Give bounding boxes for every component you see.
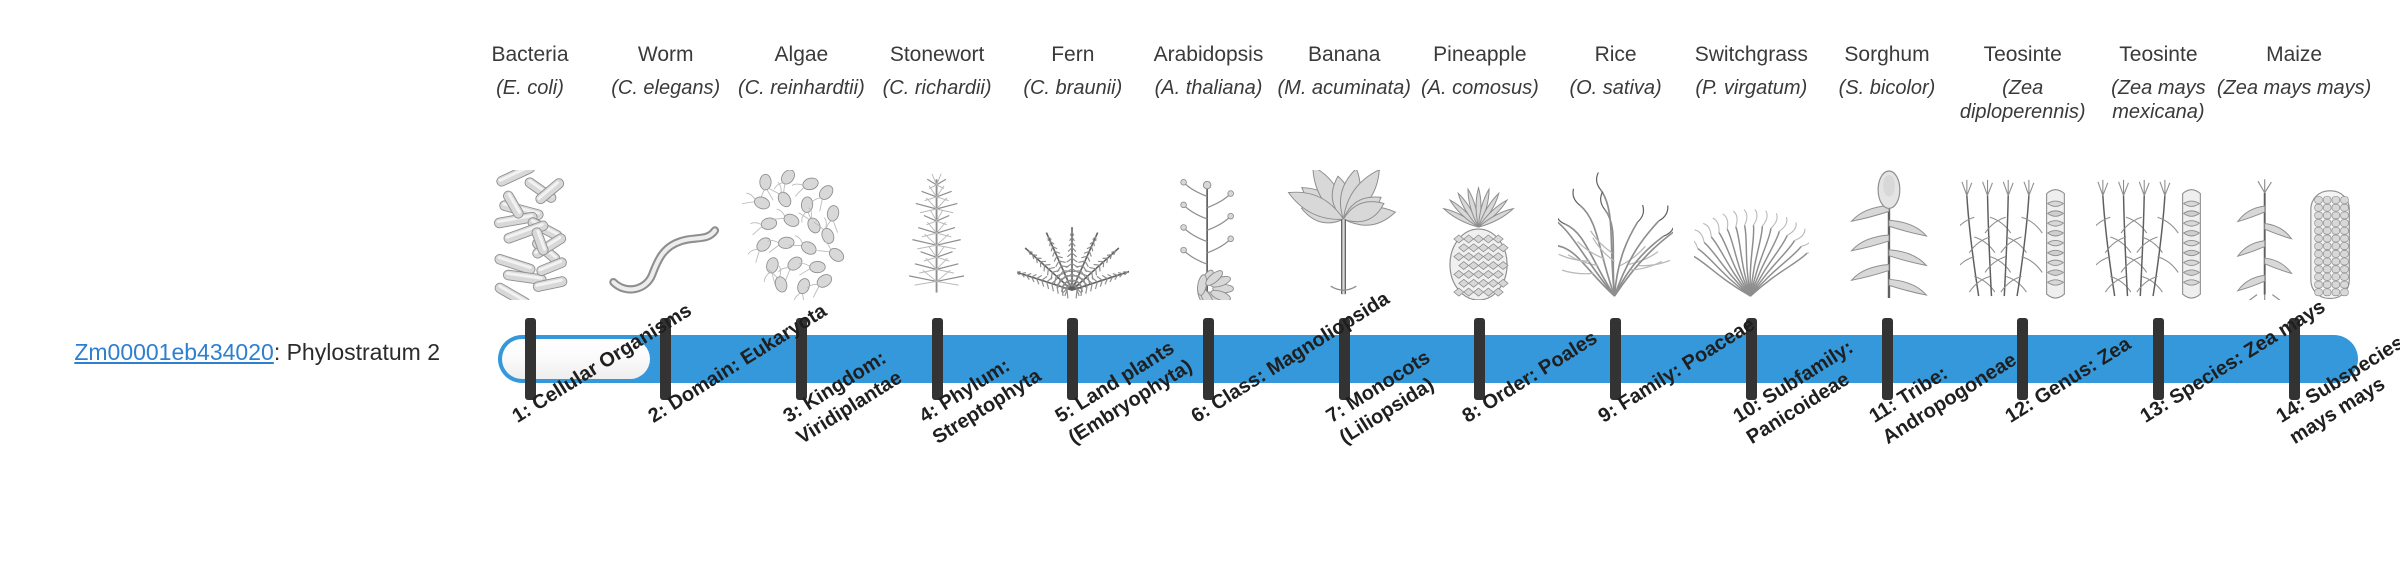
phylostratum-tick-1: [525, 318, 536, 400]
gene-phylostratum-value: Phylostratum 2: [287, 339, 440, 365]
gene-id-link[interactable]: Zm00001eb434020: [74, 339, 274, 365]
species-column-worm: Worm(C. elegans): [598, 0, 734, 580]
species-column-fern: Fern(C. braunii): [1005, 0, 1141, 580]
gene-label-separator: :: [274, 339, 287, 365]
species-column-teosinte: Teosinte(Zea mays mexicana): [2090, 0, 2226, 580]
species-column-sorghum: Sorghum(S. bicolor): [1819, 0, 1955, 580]
species-column-maize: Maize(Zea mays mays): [2226, 0, 2362, 580]
species-column-bacteria: Bacteria(E. coli): [462, 0, 598, 580]
species-column-rice: Rice(O. sativa): [1548, 0, 1684, 580]
gene-phylostratum-label: Zm00001eb434020: Phylostratum 2: [40, 338, 440, 366]
species-column-switchgrass: Switchgrass(P. virgatum): [1683, 0, 1819, 580]
species-column-teosinte: Teosinte(Zea diploperennis): [1955, 0, 2091, 580]
maize-icon: [2208, 160, 2380, 300]
species-latin-name: (Zea mays mays): [2208, 76, 2380, 100]
phylostratigraphy-figure: Zm00001eb434020: Phylostratum 2 Bacteria…: [0, 0, 2400, 580]
species-column-pineapple: Pineapple(A. comosus): [1412, 0, 1548, 580]
species-column-banana: Banana(M. acuminata): [1276, 0, 1412, 580]
species-column-arabidopsis: Arabidopsis(A. thaliana): [1141, 0, 1277, 580]
species-column-stonewort: Stonewort(C. richardii): [869, 0, 1005, 580]
species-column-algae: Algae(C. reinhardtii): [733, 0, 869, 580]
species-common-name: Maize: [2208, 42, 2380, 67]
species-latin-name: (Zea diploperennis): [1945, 76, 2101, 124]
